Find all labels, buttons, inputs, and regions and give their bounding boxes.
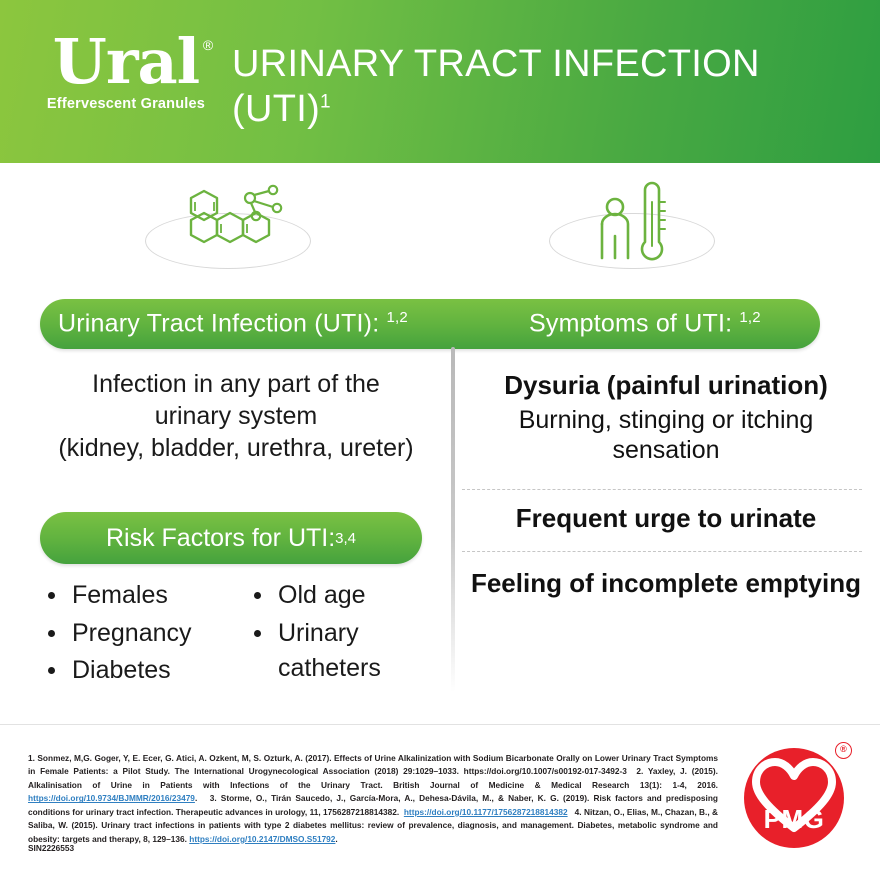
- references-text: 1. Sonmez, M,G. Goger, Y, E. Ecer, G. At…: [28, 752, 718, 846]
- list-item: Urinary catheters: [240, 616, 430, 687]
- symptom-1-description: Burning, stinging or itching sensation: [462, 405, 870, 466]
- definition-heading-text: Urinary Tract Infection (UTI):: [58, 310, 387, 338]
- risk-factors-column-left: Females Pregnancy Diabetes: [34, 578, 240, 691]
- sin-code: SIN2226553: [28, 843, 74, 853]
- list-item: Females: [34, 578, 240, 614]
- infographic-page: Ural ® Effervescent Granules URINARY TRA…: [0, 0, 880, 880]
- risk-factors-heading-superscript: 3,4: [335, 530, 356, 547]
- symptoms-section-heading: Symptoms of UTI: 1,2: [471, 309, 761, 338]
- patient-thermometer-icon-slot: [532, 180, 732, 275]
- symptom-1-title: Dysuria (painful urination): [462, 370, 870, 402]
- list-item: Pregnancy: [34, 616, 240, 652]
- risk-factors-lists: Females Pregnancy Diabetes Old age Urina…: [34, 578, 446, 691]
- registered-trademark-icon: ®: [203, 39, 212, 52]
- symptom-divider-2: [462, 551, 862, 552]
- page-title-superscript: 1: [320, 91, 331, 112]
- list-item: Old age: [240, 578, 430, 614]
- pmg-logo: PMG ®: [744, 742, 852, 850]
- list-item: Diabetes: [34, 653, 240, 689]
- symptom-divider-1: [462, 489, 862, 490]
- risk-factors-column-right: Old age Urinary catheters: [240, 578, 430, 691]
- pmg-registered-icon: ®: [835, 742, 852, 759]
- definition-heading-superscript: 1,2: [387, 309, 408, 326]
- ural-logo-wordmark: Ural ®: [53, 33, 199, 92]
- footer-divider: [0, 724, 880, 725]
- symptoms-heading-text: Symptoms of UTI:: [529, 310, 739, 338]
- risk-factors-heading-text: Risk Factors for UTI:: [106, 524, 335, 553]
- symptoms-heading-superscript: 1,2: [739, 309, 760, 326]
- risk-factors-heading: Risk Factors for UTI: 3,4: [40, 512, 422, 564]
- section-header-bar: Urinary Tract Infection (UTI): 1,2 Sympt…: [40, 299, 820, 349]
- symptom-item-2: Frequent urge to urinate: [462, 503, 870, 535]
- definition-line-1: Infection in any part of the: [92, 370, 380, 398]
- pmg-logo-text: PMG: [744, 804, 844, 835]
- definition-body: Infection in any part of the urinary sys…: [30, 368, 442, 464]
- symptom-item-3: Feeling of incomplete emptying: [462, 568, 870, 600]
- page-title: URINARY TRACT INFECTION (UTI)1: [232, 42, 832, 132]
- molecule-icon: [128, 180, 328, 275]
- page-title-line-1: URINARY TRACT INFECTION: [232, 43, 760, 85]
- page-title-line-2: (UTI): [232, 88, 320, 130]
- molecule-icon-slot: [128, 180, 328, 275]
- definition-line-2: urinary system: [155, 402, 318, 430]
- symptom-item-1: Dysuria (painful urination) Burning, sti…: [462, 370, 870, 466]
- header-band: Ural ® Effervescent Granules URINARY TRA…: [0, 0, 880, 163]
- symptom-2-title: Frequent urge to urinate: [462, 503, 870, 535]
- ural-logo: Ural ® Effervescent Granules: [36, 33, 216, 112]
- definition-line-3: (kidney, bladder, urethra, ureter): [58, 434, 413, 462]
- patient-thermometer-icon: [532, 180, 732, 275]
- column-divider: [451, 347, 455, 692]
- symptom-3-title: Feeling of incomplete emptying: [462, 568, 870, 600]
- ural-logo-subtitle: Effervescent Granules: [36, 96, 216, 112]
- definition-section-heading: Urinary Tract Infection (UTI): 1,2: [40, 309, 471, 338]
- ural-logo-word-text: Ural: [53, 25, 199, 98]
